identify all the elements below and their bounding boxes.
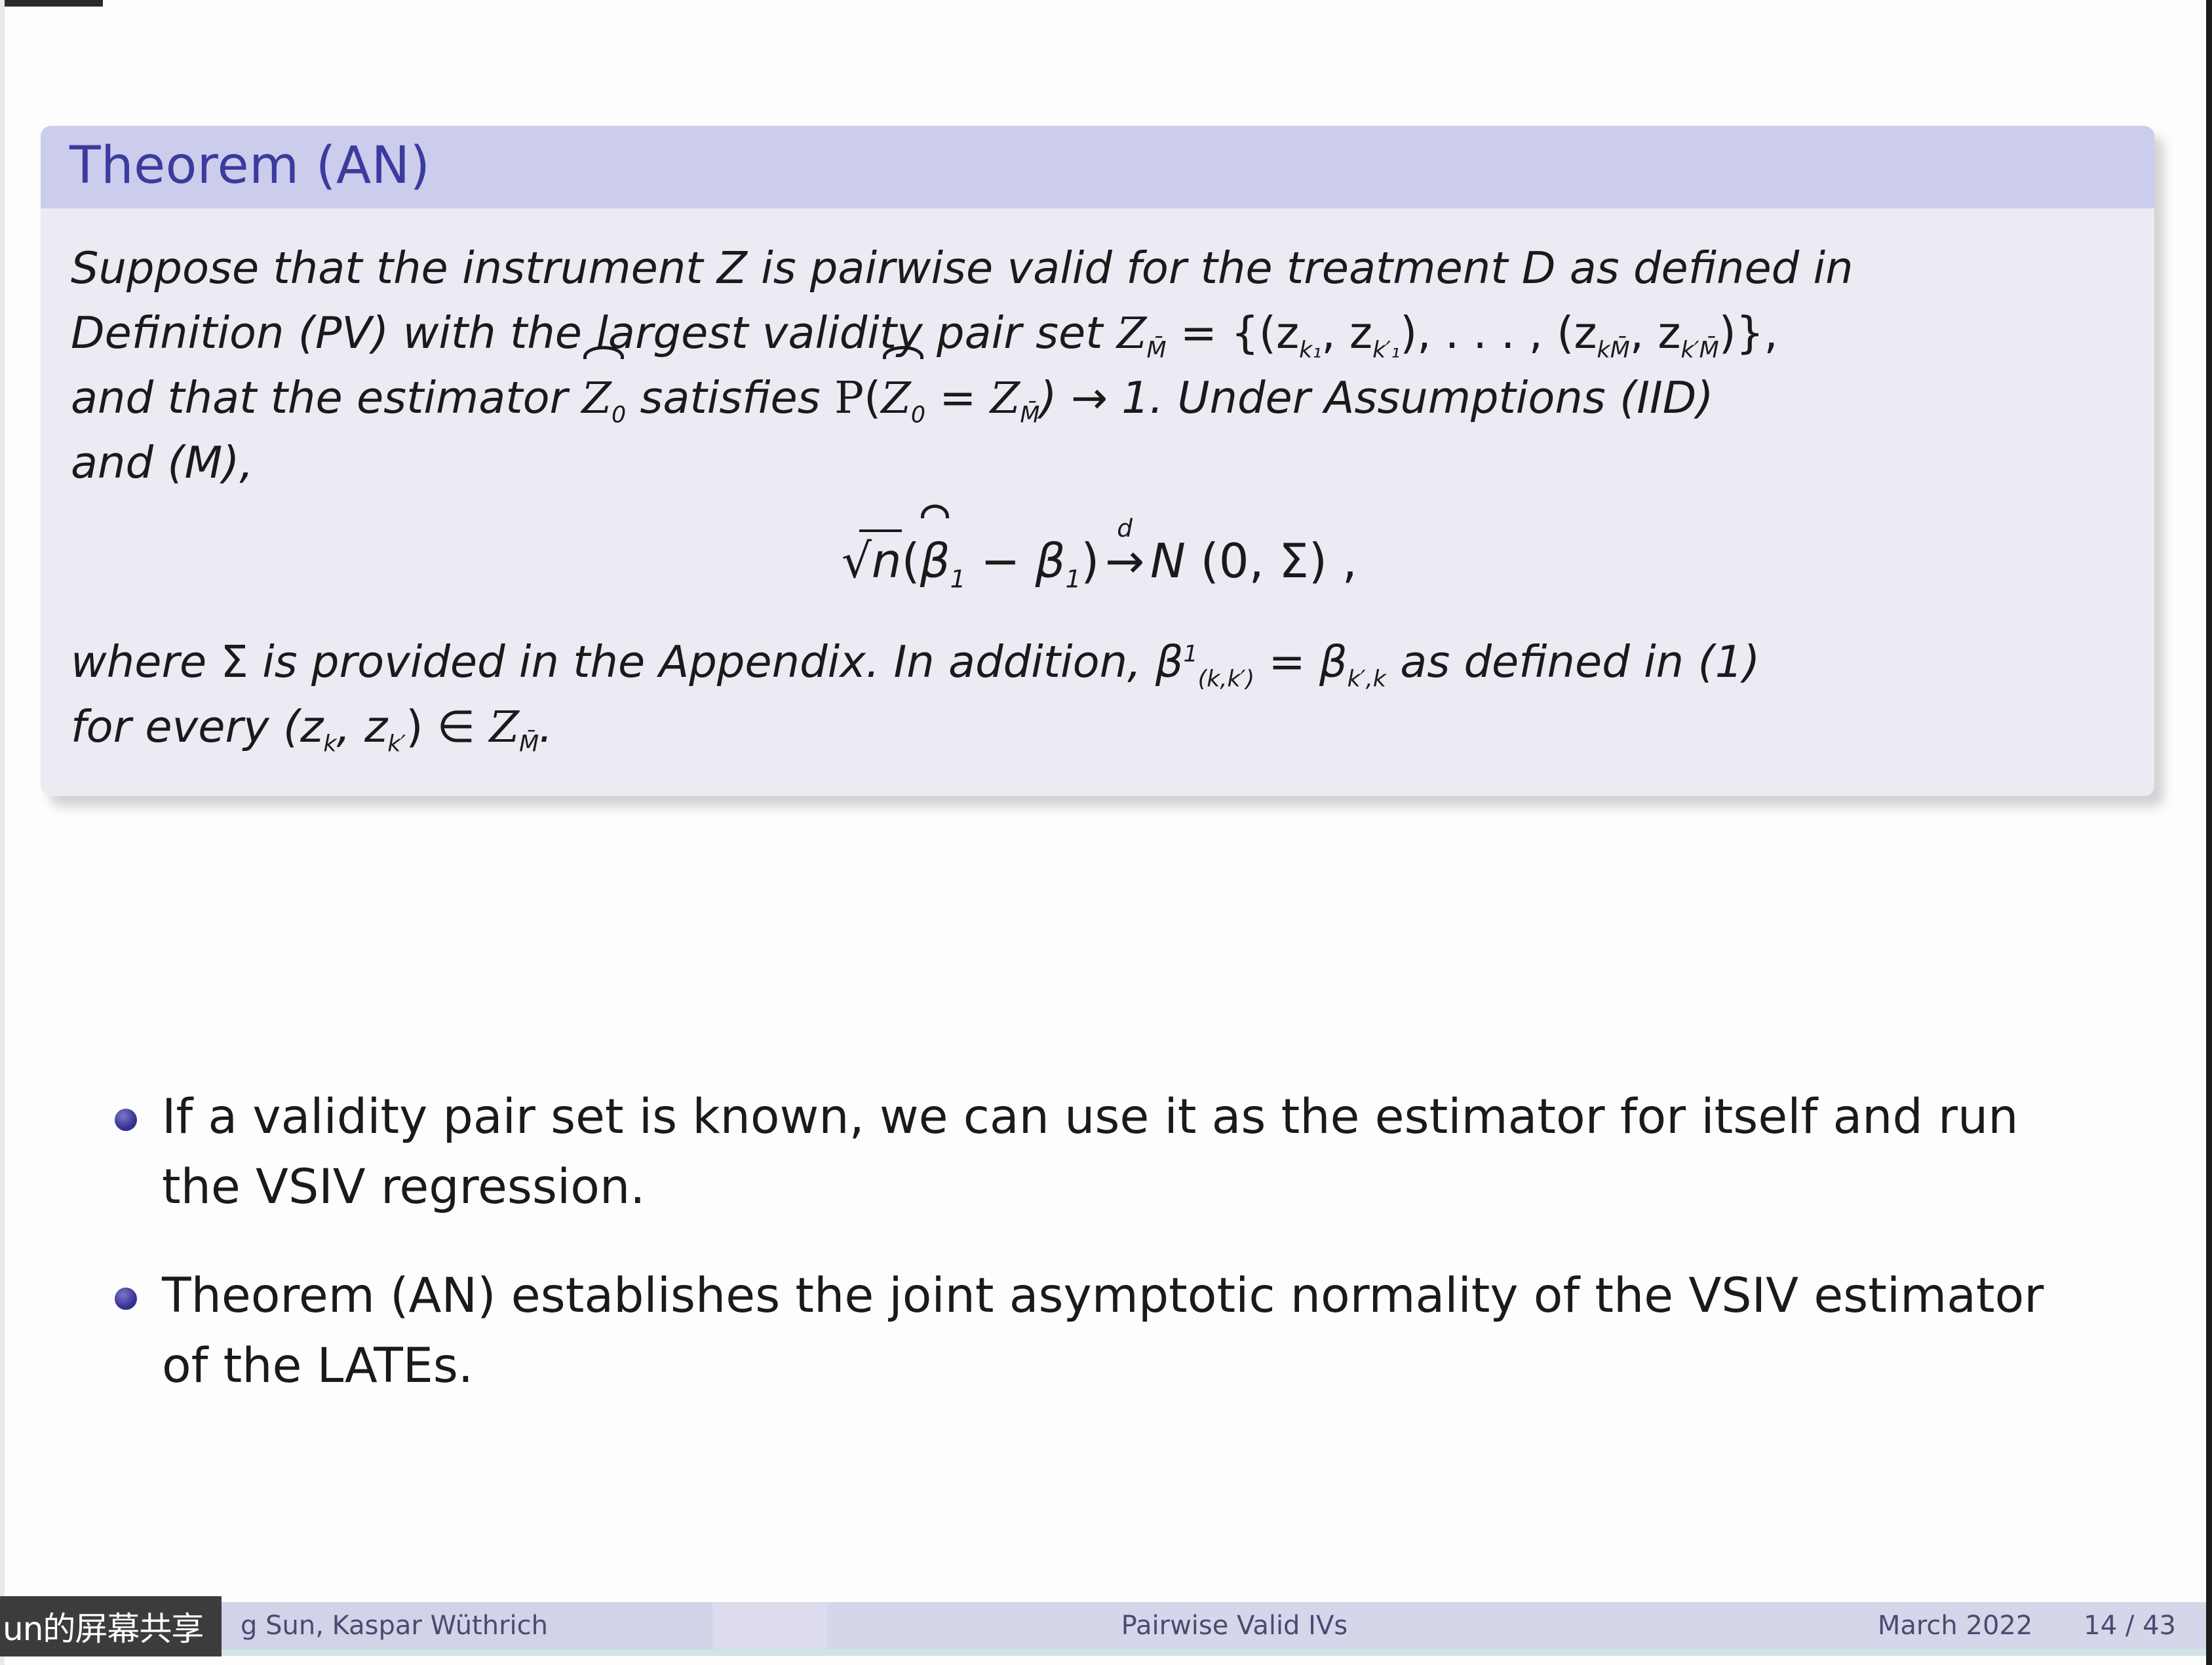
math-subscript-Mbar: M̄ bbox=[519, 731, 539, 757]
math-subscript-kprime: k′ bbox=[387, 731, 406, 757]
math-symbol-sigma: Σ bbox=[221, 636, 248, 687]
math-element-of: ) ∈ bbox=[406, 701, 489, 752]
math-subscript-kM: kM̄ bbox=[1597, 337, 1630, 364]
math-paren-open: ( bbox=[902, 533, 920, 588]
math-script-Z: Z bbox=[1117, 309, 1147, 358]
bullet-dot-icon bbox=[115, 1109, 137, 1131]
math-convergence-arrow: d→ bbox=[1099, 526, 1150, 596]
math-period: . bbox=[539, 701, 553, 752]
theorem-line-2: Definition (PV) with the largest validit… bbox=[71, 301, 2124, 366]
math-subscript-Mbar: M̄ bbox=[1020, 402, 1039, 429]
footer-page-number: 14 / 43 bbox=[2084, 1611, 2206, 1641]
math-arrow-label-d: d bbox=[1117, 510, 1133, 546]
math-superscript-1: 1 bbox=[1183, 641, 1197, 668]
theorem-text-fragment: satisfies bbox=[626, 372, 834, 423]
theorem-text-fragment: is pairwise valid for the treatment bbox=[747, 242, 1522, 294]
math-symbol-Z: Z bbox=[717, 242, 747, 294]
math-subscript-0: 0 bbox=[611, 402, 626, 429]
screen-share-badge-label: un的屏幕共享 bbox=[3, 1603, 203, 1650]
theorem-text-fragment: as defined in (1) bbox=[1386, 636, 1760, 687]
math-script-Z: Z bbox=[489, 702, 519, 752]
bullet-text: If a validity pair set is known, we can … bbox=[162, 1082, 2102, 1222]
math-equals: = bbox=[1254, 636, 1319, 687]
math-sqrt: √n bbox=[838, 526, 901, 596]
footer-underline bbox=[5, 1649, 2206, 1656]
math-hat-group: Z0 bbox=[581, 366, 626, 431]
bullet-list: If a validity pair set is known, we can … bbox=[115, 1082, 2120, 1440]
slide-canvas: Theorem (AN) Suppose that the instrument… bbox=[0, 0, 2212, 1665]
theorem-line-4: and (M), bbox=[71, 431, 2124, 495]
footer-meta-region: March 2022 14 / 43 bbox=[1878, 1602, 2206, 1649]
theorem-text-fragment: where bbox=[71, 636, 221, 687]
math-symbol-sigma: Σ bbox=[1279, 533, 1309, 588]
theorem-line-3: and that the estimator Z0 satisfies P(Z0… bbox=[71, 366, 2124, 431]
theorem-body: Suppose that the instrument Z is pairwis… bbox=[41, 208, 2154, 796]
bullet-dot-icon bbox=[115, 1288, 137, 1310]
slide-footer: g Sun, Kaspar Wüthrich Pairwise Valid IV… bbox=[5, 1602, 2206, 1649]
math-set-open: {(z bbox=[1231, 307, 1299, 358]
footer-talk-title: Pairwise Valid IVs bbox=[1121, 1611, 1348, 1641]
theorem-text-fragment: and (M), bbox=[71, 437, 254, 488]
bullet-text: Theorem (AN) establishes the joint asymp… bbox=[162, 1261, 2102, 1401]
footer-title-region: Pairwise Valid IVs bbox=[827, 1602, 1878, 1649]
math-paren-close: ) bbox=[1081, 533, 1099, 588]
math-paren-open: ( bbox=[864, 372, 881, 423]
math-subscript-kprime1: k′₁ bbox=[1372, 337, 1400, 364]
theorem-text-fragment: is provided in the Appendix. In addition… bbox=[248, 636, 1155, 687]
math-subscript-1: 1 bbox=[950, 564, 966, 593]
math-radical-symbol: √ bbox=[842, 533, 872, 588]
theorem-text-fragment: as defined in bbox=[1555, 242, 1853, 294]
math-symbol-beta: β bbox=[1036, 533, 1066, 588]
math-subscript-kprimeM: k′M̄ bbox=[1681, 337, 1719, 364]
math-script-Z: Z bbox=[881, 373, 911, 423]
math-symbol-N: N bbox=[1150, 533, 1186, 588]
theorem-line-1: Suppose that the instrument Z is pairwis… bbox=[71, 236, 2124, 301]
hat-accent bbox=[921, 505, 948, 519]
theorem-line-6: for every (zk, zk′) ∈ ZM̄. bbox=[71, 695, 2124, 759]
math-blackboard-P: P bbox=[834, 372, 864, 423]
theorem-text-fragment: ) → 1. Under Assumptions (IID) bbox=[1039, 372, 1713, 423]
footer-gap bbox=[712, 1602, 827, 1649]
footer-authors: g Sun, Kaspar Wüthrich bbox=[241, 1611, 548, 1641]
math-hat-group: Z0 bbox=[881, 366, 925, 431]
theorem-text-fragment: Suppose that the instrument bbox=[71, 242, 717, 294]
math-equals: = bbox=[925, 372, 990, 423]
math-subscript-k: k bbox=[323, 731, 336, 757]
math-subscript-kk: (k,k′) bbox=[1198, 666, 1255, 693]
math-subscript-Mbar: M̄ bbox=[1146, 337, 1166, 364]
footer-date: March 2022 bbox=[1878, 1611, 2084, 1641]
math-args-open: (0, bbox=[1186, 533, 1279, 588]
list-item: Theorem (AN) establishes the joint asymp… bbox=[115, 1261, 2120, 1401]
math-subscript-k1: k₁ bbox=[1299, 337, 1321, 364]
math-script-Z: Z bbox=[990, 373, 1020, 423]
math-radical-bar bbox=[859, 529, 901, 532]
math-minus: − bbox=[965, 533, 1035, 588]
math-symbol-beta: β bbox=[1155, 636, 1184, 687]
theorem-line-5: where Σ is provided in the Appendix. In … bbox=[71, 630, 2124, 695]
math-subscript-1: 1 bbox=[1065, 564, 1081, 593]
math-script-Z: Z bbox=[581, 373, 611, 423]
share-frame-top-left-edge bbox=[5, 0, 103, 7]
math-subscript-0: 0 bbox=[911, 402, 925, 429]
math-equals: = bbox=[1167, 307, 1232, 358]
math-args-close: ) , bbox=[1309, 533, 1357, 588]
theorem-block: Theorem (AN) Suppose that the instrument… bbox=[41, 126, 2154, 796]
math-separator: , z bbox=[1630, 307, 1681, 358]
math-separator: , z bbox=[1321, 307, 1372, 358]
theorem-text-fragment: and that the estimator bbox=[71, 372, 581, 423]
math-symbol-beta: β bbox=[1319, 636, 1348, 687]
math-ellipsis: ), . . . , (z bbox=[1400, 307, 1597, 358]
screen-share-badge: un的屏幕共享 bbox=[0, 1596, 222, 1656]
list-item: If a validity pair set is known, we can … bbox=[115, 1082, 2120, 1222]
theorem-text-fragment: , z bbox=[337, 701, 388, 752]
theorem-header: Theorem (AN) bbox=[41, 126, 2154, 208]
math-subscript-kprimek: k′,k bbox=[1348, 666, 1386, 693]
math-symbol-n: n bbox=[872, 533, 902, 588]
theorem-display-equation: √n(β1 − β1)d→N (0, Σ) , bbox=[71, 526, 2124, 596]
share-frame-left-edge bbox=[0, 0, 5, 1665]
math-hat-group: β bbox=[920, 526, 950, 596]
math-symbol-D: D bbox=[1522, 242, 1556, 294]
math-set-close: )}, bbox=[1719, 307, 1778, 358]
share-frame-right-edge bbox=[2206, 0, 2212, 1665]
math-symbol-beta-hat: β bbox=[920, 533, 950, 588]
theorem-text-fragment: for every (z bbox=[71, 701, 323, 752]
theorem-title: Theorem (AN) bbox=[69, 136, 430, 195]
